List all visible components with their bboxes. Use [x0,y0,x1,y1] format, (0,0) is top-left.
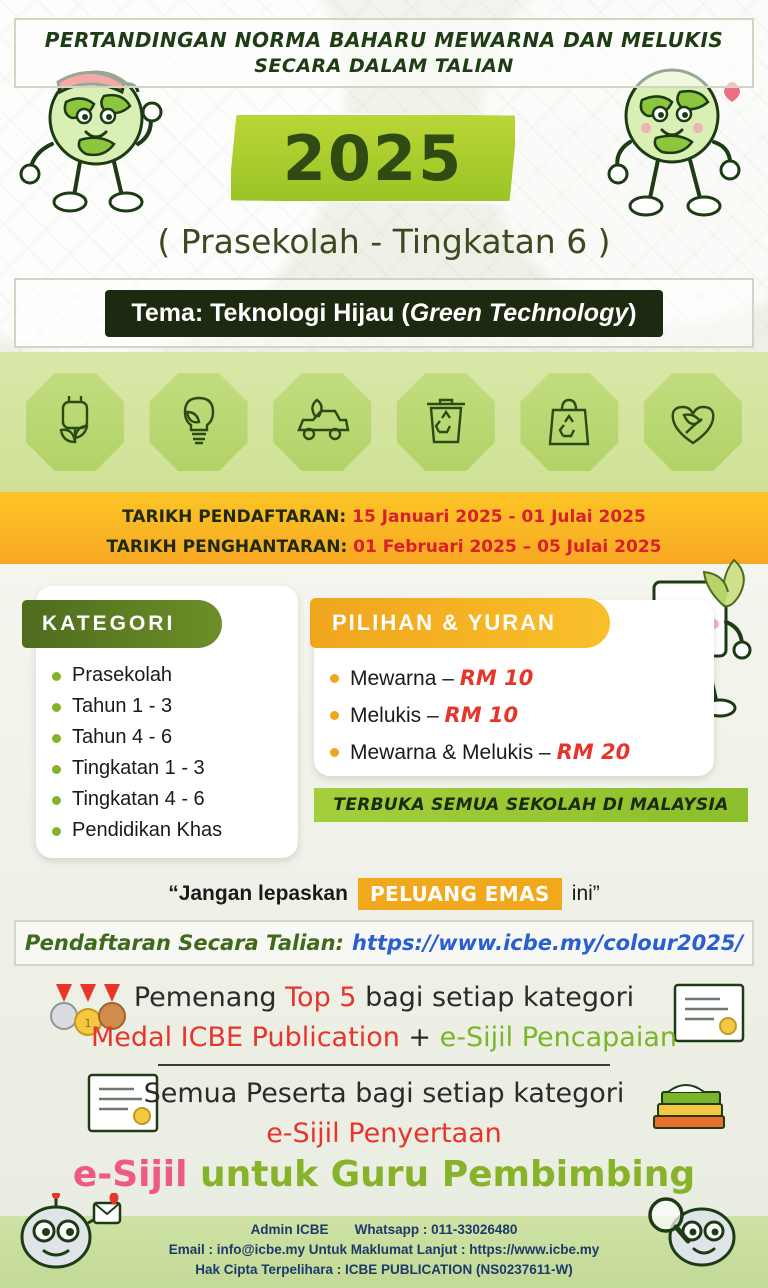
year-text: 2025 [283,122,464,195]
list-item: Tingkatan 1 - 3 [52,753,288,784]
year-badge: 2025 [228,112,518,204]
poster-title-box: PERTANDINGAN NORMA BAHARU MEWARNA DAN ME… [14,18,754,88]
quote-prefix: “Jangan lepaskan [168,882,348,906]
subtitle: ( Prasekolah - Tingkatan 6 ) [0,222,768,261]
page-title-line1: PERTANDINGAN NORMA BAHARU MEWARNA DAN ME… [45,27,724,53]
recycle-bin-icon [395,371,497,473]
dates-block: TARIKH PENDAFTARAN: 15 Januari 2025 - 01… [0,502,768,562]
list-item: Tahun 1 - 3 [52,691,288,722]
kategori-heading: KATEGORI [42,612,175,636]
list-item: Pendidikan Khas [52,815,288,846]
pilihan-label: Melukis – [350,704,445,727]
esijil-guru-text: untuk Guru Pembimbing [188,1154,696,1195]
registration-date-label: TARIKH PENDAFTARAN: [122,507,346,527]
footer-line-2[interactable]: Email : info@icbe.my Untuk Maklumat Lanj… [0,1240,768,1260]
award-line-4: e-Sijil Penyertaan [0,1114,768,1154]
footer-block: Admin ICBEWhatsapp : 011-33026480 Email … [0,1220,768,1280]
theme-close: ) [628,299,636,327]
award-top5: Top 5 [285,982,356,1013]
award-line1-suffix: bagi setiap kategori [356,982,634,1013]
award-line-3: Semua Peserta bagi setiap kategori [0,1074,768,1114]
esijil-label: e-Sijil [73,1154,188,1195]
list-item: Melukis – RM 10 [330,697,710,734]
footer-line-3: Hak Cipta Terpelihara : ICBE PUBLICATION… [0,1260,768,1280]
plug-leaf-icon [24,371,126,473]
leaf-heart-icon [642,371,744,473]
eco-car-icon [271,371,373,473]
quote-suffix: ini” [572,882,600,906]
divider [158,1064,610,1066]
pilihan-heading: PILIHAN & YURAN [332,610,556,636]
award-line1-prefix: Pemenang [134,982,285,1013]
award-plus: + [400,1022,440,1053]
registration-url[interactable]: https://www.icbe.my/colour2025/ [352,931,743,955]
list-item: Mewarna – RM 10 [330,660,710,697]
lightbulb-leaf-icon [148,371,250,473]
registration-link-box[interactable]: Pendaftaran Secara Talian: https://www.i… [14,920,754,966]
list-item: Tahun 4 - 6 [52,722,288,753]
award-line-1: Pemenang Top 5 bagi setiap kategori [0,978,768,1018]
kategori-list: Prasekolah Tahun 1 - 3 Tahun 4 - 6 Tingk… [52,660,288,846]
pilihan-price: RM 10 [460,666,534,690]
pilihan-list: Mewarna – RM 10 Melukis – RM 10 Mewarna … [330,660,710,771]
green-tech-icon-strip [24,368,744,476]
quote-highlight: PELUANG EMAS [358,878,562,910]
registration-label: Pendaftaran Secara Talian: [25,931,344,955]
page-title-line2: SECARA DALAM TALIAN [254,53,514,79]
poster-root: 1 [0,0,768,1288]
open-to-all-text: TERBUKA SEMUA SEKOLAH DI MALAYSIA [333,795,728,815]
kategori-header: KATEGORI [22,600,222,648]
theme-text: Tema: Teknologi Hijau (Green Technology) [105,290,662,337]
pilihan-label: Mewarna – [350,667,460,690]
award-esijil-pencapaian: e-Sijil Pencapaian [440,1022,677,1053]
award-line-2: Medal ICBE Publication + e-Sijil Pencapa… [0,1018,768,1058]
footer-whatsapp[interactable]: Whatsapp : 011-33026480 [355,1222,518,1237]
pilihan-header: PILIHAN & YURAN [310,598,610,648]
registration-date-row: TARIKH PENDAFTARAN: 15 Januari 2025 - 01… [0,502,768,532]
theme-label: Tema: Teknologi Hijau ( [131,299,409,327]
submission-date-row: TARIKH PENGHANTARAN: 01 Februari 2025 – … [0,532,768,562]
footer-admin: Admin ICBE [251,1222,329,1237]
registration-date-value: 15 Januari 2025 - 01 Julai 2025 [352,507,646,527]
recycle-bag-icon [518,371,620,473]
footer-line-1: Admin ICBEWhatsapp : 011-33026480 [0,1220,768,1240]
theme-english: Green Technology [410,299,629,327]
awards-block: Pemenang Top 5 bagi setiap kategori Meda… [0,978,768,1154]
quote-block: “Jangan lepaskan PELUANG EMAS ini” [0,878,768,910]
pilihan-label: Mewarna & Melukis – [350,741,557,764]
award-esijil-penyertaan: e-Sijil Penyertaan [266,1118,502,1149]
submission-date-value: 01 Februari 2025 – 05 Julai 2025 [353,537,661,557]
theme-box: Tema: Teknologi Hijau (Green Technology) [14,278,754,348]
pilihan-price: RM 10 [445,703,519,727]
esijil-guru-line: e-Sijil untuk Guru Pembimbing [0,1154,768,1195]
submission-date-label: TARIKH PENGHANTARAN: [107,537,348,557]
pilihan-price: RM 20 [557,740,631,764]
open-to-all-banner: TERBUKA SEMUA SEKOLAH DI MALAYSIA [314,788,748,822]
list-item: Tingkatan 4 - 6 [52,784,288,815]
award-medal: Medal ICBE Publication [91,1022,400,1053]
list-item: Prasekolah [52,660,288,691]
list-item: Mewarna & Melukis – RM 20 [330,734,710,771]
